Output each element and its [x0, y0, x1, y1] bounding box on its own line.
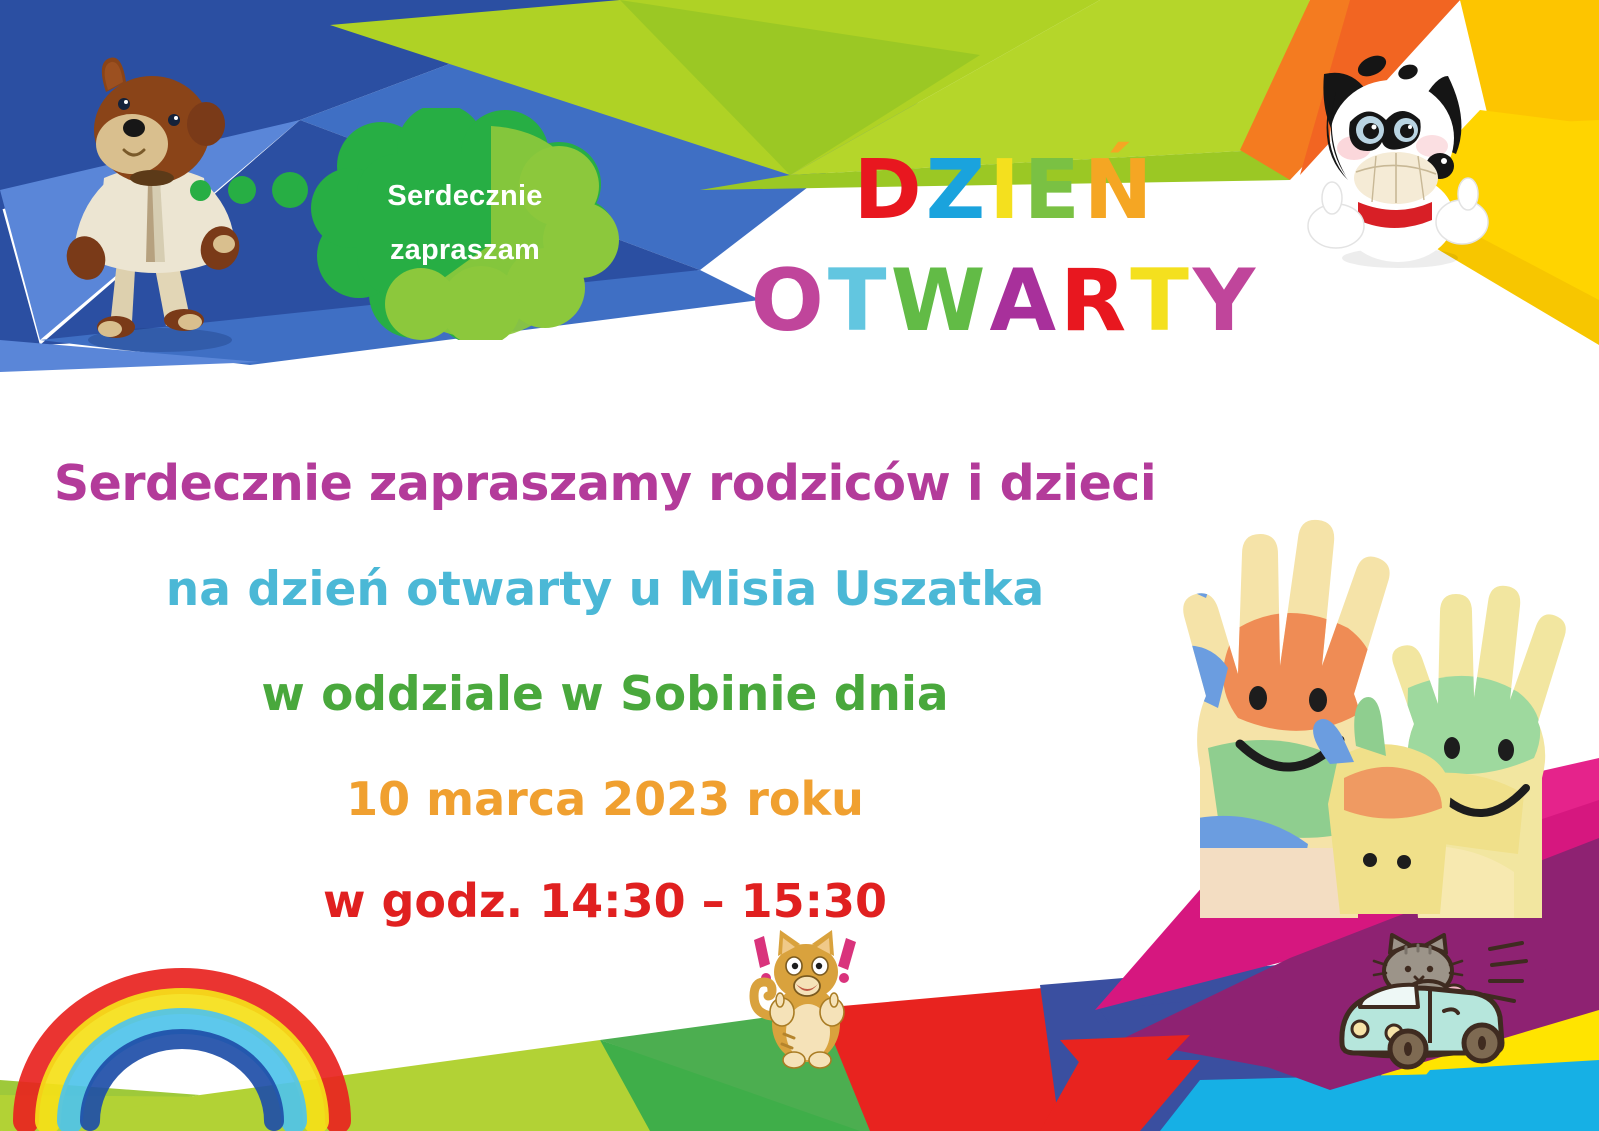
- rainbow-icon: [8, 896, 368, 1131]
- invitation-line-4: 10 marca 2023 roku: [0, 772, 1210, 826]
- title-letter-r: R: [1060, 258, 1130, 344]
- invitation-line-5: w godz. 14:30 – 15:30: [0, 874, 1210, 928]
- poster-title: DZIEŃ OTWARTY: [745, 150, 1265, 344]
- invitation-text-block: Serdecznie zapraszamy rodziców i dzieci …: [0, 455, 1210, 928]
- title-letter-a: A: [989, 258, 1060, 344]
- title-letter-o: O: [751, 258, 828, 344]
- poster-root: Serdecznie zapraszam: [0, 0, 1599, 1131]
- pusheen-car-icon: [1322, 925, 1532, 1075]
- thought-dot-medium: [228, 176, 256, 204]
- title-word-dzien: DZIEŃ: [745, 150, 1265, 232]
- title-letter-t1: T: [828, 258, 891, 344]
- title-word-otwarty: OTWARTY: [745, 258, 1265, 344]
- invitation-line-2: na dzień otwarty u Misia Uszatka: [0, 562, 1210, 617]
- orange-cat-icon: [740, 908, 870, 1073]
- thought-bubble-shape: [309, 108, 621, 340]
- title-letter-y: Y: [1193, 258, 1259, 344]
- title-letter-w: W: [891, 258, 990, 344]
- title-letter-e: E: [1024, 150, 1084, 232]
- title-letter-t2: T: [1130, 258, 1193, 344]
- thought-dot-small: [190, 180, 211, 201]
- title-letter-n-acute: Ń: [1084, 150, 1157, 232]
- title-letter-i: I: [989, 150, 1024, 232]
- title-letter-d: D: [854, 150, 926, 232]
- title-letter-z: Z: [926, 150, 989, 232]
- cartoon-dog-icon: [1280, 30, 1510, 270]
- invitation-line-1: Serdecznie zapraszamy rodziców i dzieci: [0, 455, 1210, 512]
- invitation-line-3: w oddziale w Sobinie dnia: [0, 667, 1210, 722]
- teddy-bear-icon: [48, 52, 263, 352]
- thought-dot-large: [272, 172, 308, 208]
